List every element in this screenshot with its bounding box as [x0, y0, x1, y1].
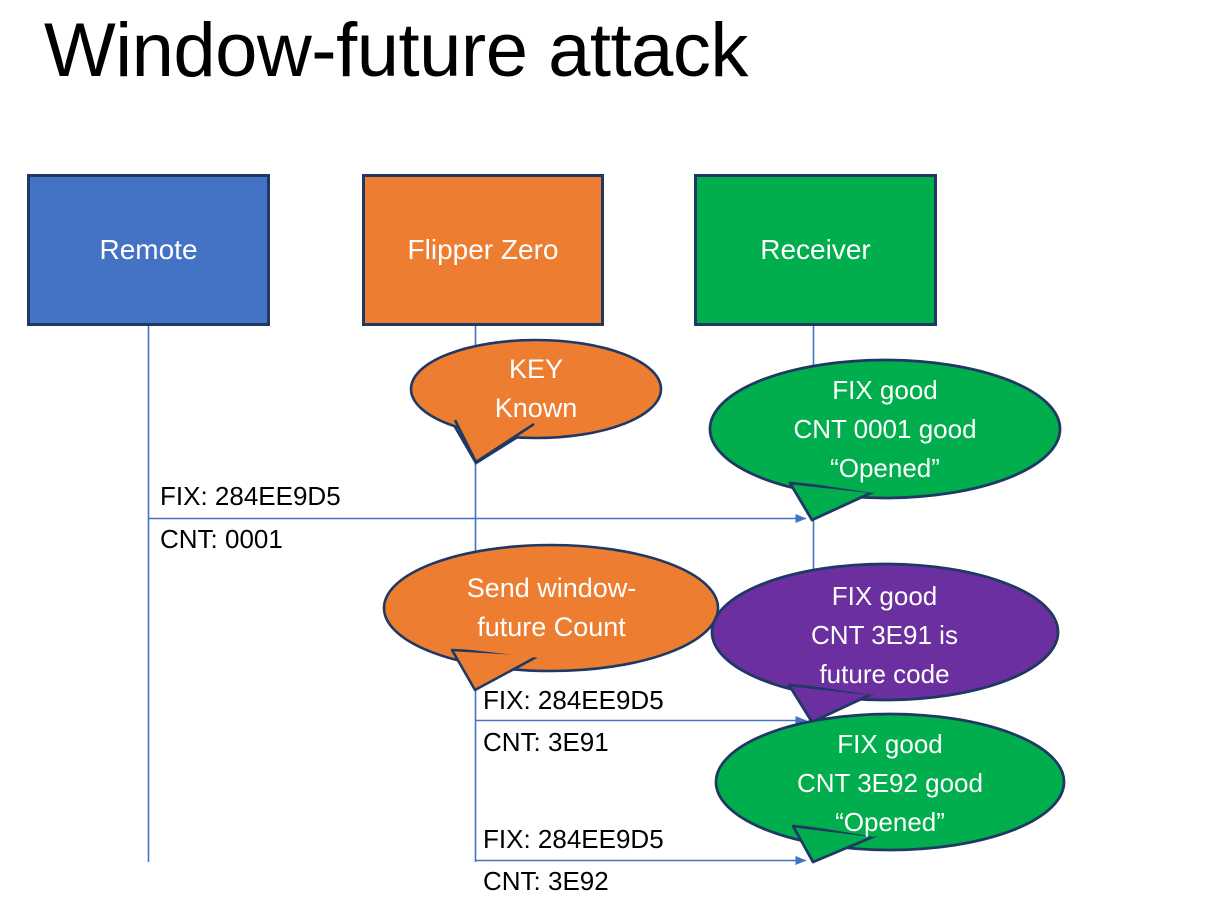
message-2-fix-label: FIX: 284EE9D5 — [483, 685, 664, 715]
slide-canvas: Window-future attack Remote Flipper Zero… — [0, 0, 1216, 898]
slide-title: Window-future attack — [44, 8, 1144, 94]
diagram-vector-layer — [0, 0, 1216, 898]
actor-box-receiver[interactable]: Receiver — [694, 174, 937, 326]
message-1-fix-label: FIX: 284EE9D5 — [160, 481, 341, 511]
message-3-cnt-label: CNT: 3E92 — [483, 866, 609, 896]
message-1-cnt-label: CNT: 0001 — [160, 524, 283, 554]
message-2-cnt-label: CNT: 3E91 — [483, 727, 609, 757]
actor-label-remote: Remote — [99, 233, 197, 267]
message-3-fix-label: FIX: 284EE9D5 — [483, 824, 664, 854]
actor-label-flipper: Flipper Zero — [408, 233, 559, 267]
bubble-shape-fix-good-0001 — [710, 360, 1060, 520]
actor-box-remote[interactable]: Remote — [27, 174, 270, 326]
actor-box-flipper[interactable]: Flipper Zero — [362, 174, 604, 326]
bubble-shape-future-code — [712, 564, 1058, 722]
bubble-shape-key-known — [411, 340, 661, 463]
bubble-shape-fix-good-3e92 — [716, 714, 1064, 862]
actor-label-receiver: Receiver — [760, 233, 870, 267]
bubble-shape-send-window-future — [384, 545, 718, 690]
